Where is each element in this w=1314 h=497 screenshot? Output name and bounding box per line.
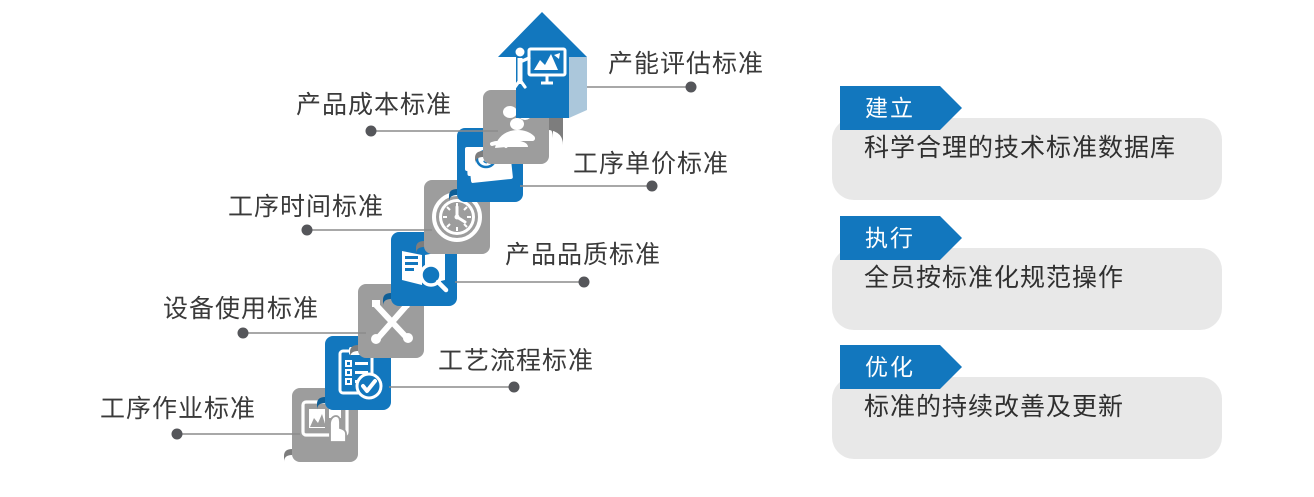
card-establish-text: 科学合理的技术标准数据库 [864, 136, 1176, 161]
card-execute-text: 全员按标准化规范操作 [864, 266, 1124, 291]
card-establish-tab[interactable]: 建立 [840, 86, 962, 130]
principles-panel: 科学合理的技术标准数据库 建立 全员按标准化规范操作 执行 标准的持续改善及更新 [832, 86, 1232, 476]
diagram-canvas: $ [0, 0, 1314, 497]
card-optimize-text: 标准的持续改善及更新 [864, 395, 1124, 420]
connector-dot-step-8 [686, 82, 697, 93]
connector-dot-step-7 [366, 126, 377, 137]
connector-dot-step-1 [172, 429, 183, 440]
connector-dot-step-3 [238, 328, 249, 339]
card-optimize-tab-label: 优化 [840, 345, 940, 389]
stair-label-step-6: 工序单价标准 [573, 152, 729, 177]
stair-label-step-8: 产能评估标准 [608, 52, 764, 77]
card-execute-tab-label: 执行 [840, 216, 940, 260]
connector-dot-step-4 [579, 277, 590, 288]
connector-dot-step-6 [647, 181, 658, 192]
card-establish-tab-label: 建立 [840, 86, 940, 130]
connector-dot-step-5 [302, 225, 313, 236]
stair-label-step-7: 产品成本标准 [296, 93, 452, 118]
card-execute-tab[interactable]: 执行 [840, 216, 962, 260]
card-optimize-tab[interactable]: 优化 [840, 345, 962, 389]
stair-label-step-5: 工序时间标准 [228, 195, 384, 220]
stair-label-step-2: 工艺流程标准 [438, 349, 594, 374]
stair-label-step-4: 产品品质标准 [505, 243, 661, 268]
stair-label-step-1: 工序作业标准 [100, 397, 256, 422]
connector-dot-step-2 [509, 382, 520, 393]
stair-label-step-3: 设备使用标准 [163, 297, 319, 322]
